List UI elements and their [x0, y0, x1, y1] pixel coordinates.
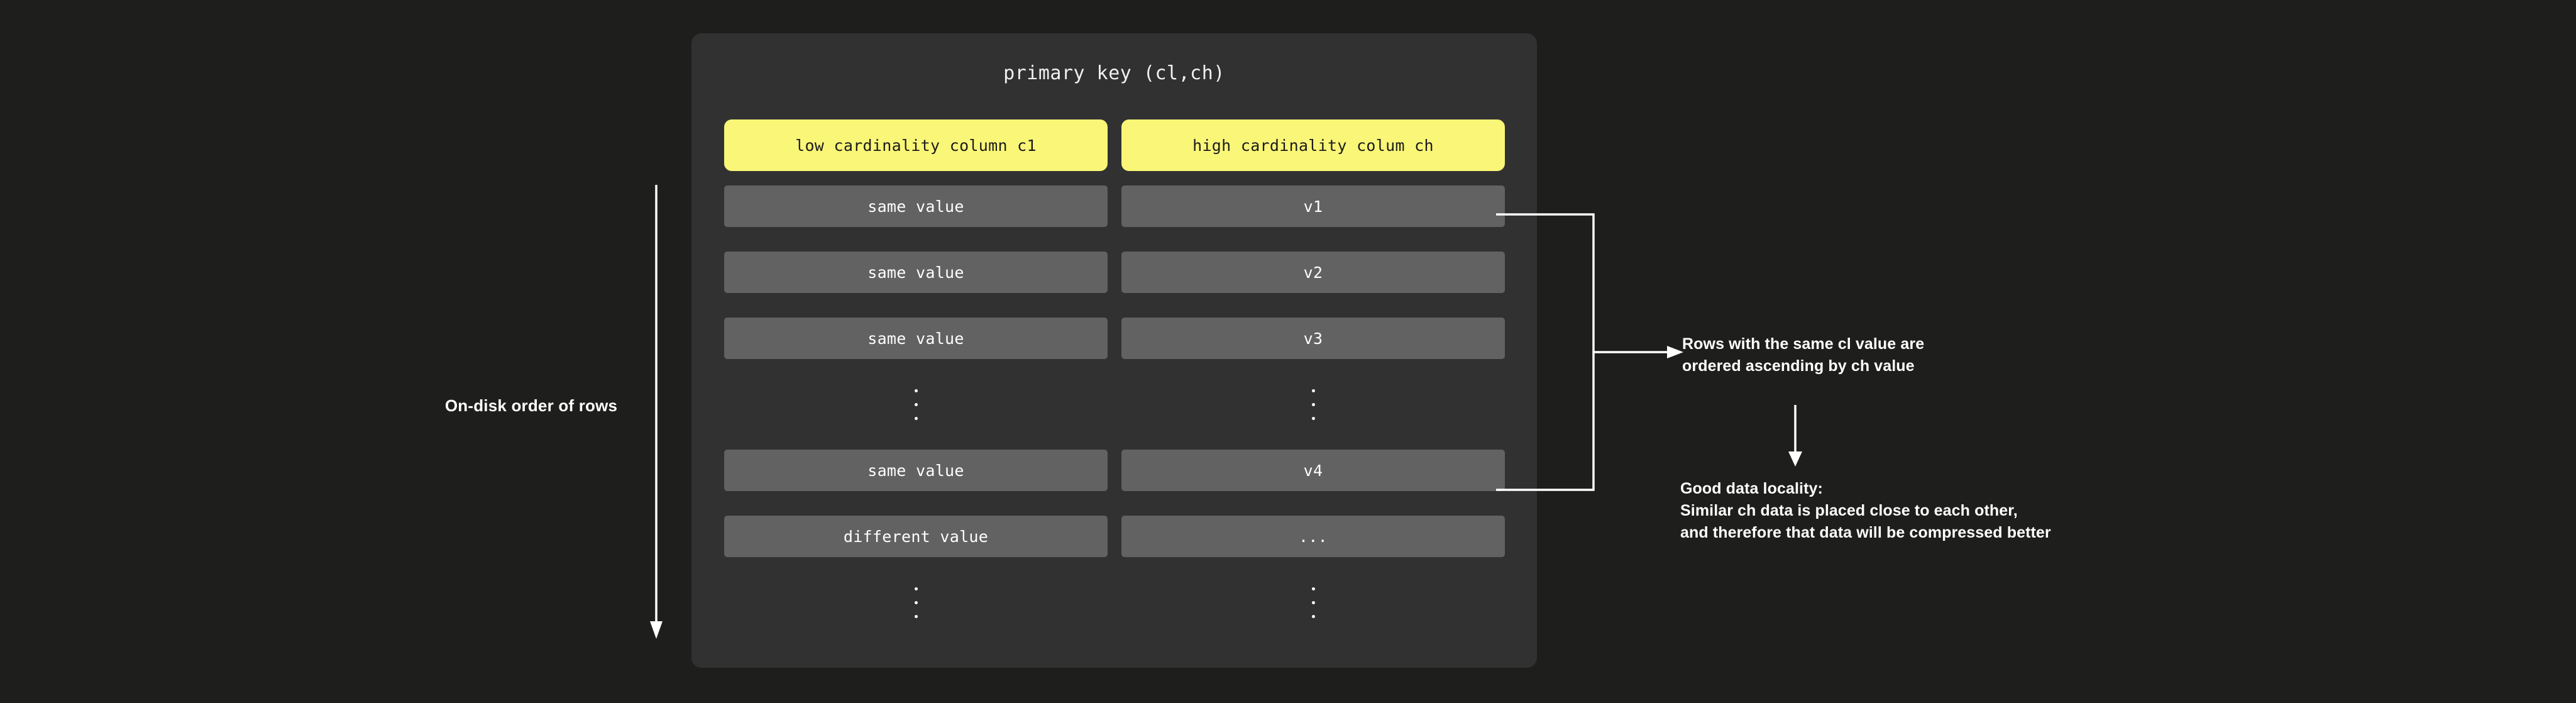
cell-ch: v3	[1121, 318, 1505, 359]
vertical-ellipsis-icon	[1121, 582, 1505, 623]
cell-c1: same value	[724, 450, 1108, 491]
table-row: same value v2	[724, 252, 1505, 293]
on-disk-order-label: On-disk order of rows	[412, 396, 651, 416]
table-row: same value v3	[724, 318, 1505, 359]
on-disk-order-arrow-icon	[642, 182, 670, 641]
table-row: same value v1	[724, 185, 1505, 227]
primary-key-panel: primary key (cl,ch) low cardinality colu…	[691, 33, 1537, 668]
table-row: different value ...	[724, 516, 1505, 557]
column-header-high-cardinality[interactable]: high cardinality colum ch	[1121, 119, 1505, 171]
ellipsis-row	[724, 384, 1505, 425]
table-row: same value v4	[724, 450, 1505, 491]
cell-c1: same value	[724, 318, 1108, 359]
cell-ch: v4	[1121, 450, 1505, 491]
ellipsis-row	[724, 582, 1505, 623]
vertical-ellipsis-icon	[724, 582, 1108, 623]
cell-ch: ...	[1121, 516, 1505, 557]
columns-grid: low cardinality column c1 high cardinali…	[724, 119, 1505, 648]
cell-ch: v1	[1121, 185, 1505, 227]
vertical-ellipsis-icon	[724, 384, 1108, 425]
cell-c1: same value	[724, 185, 1108, 227]
down-arrow-icon	[1784, 404, 1807, 469]
panel-title: primary key (cl,ch)	[691, 62, 1537, 84]
data-locality-annotation: Good data locality: Similar ch data is p…	[1680, 478, 2051, 544]
cell-c1: same value	[724, 252, 1108, 293]
column-header-low-cardinality[interactable]: low cardinality column c1	[724, 119, 1108, 171]
cell-ch: v2	[1121, 252, 1505, 293]
order-annotation: Rows with the same cl value are ordered …	[1682, 333, 1924, 377]
cell-c1: different value	[724, 516, 1108, 557]
vertical-ellipsis-icon	[1121, 384, 1505, 425]
column-headers-row: low cardinality column c1 high cardinali…	[724, 119, 1505, 171]
